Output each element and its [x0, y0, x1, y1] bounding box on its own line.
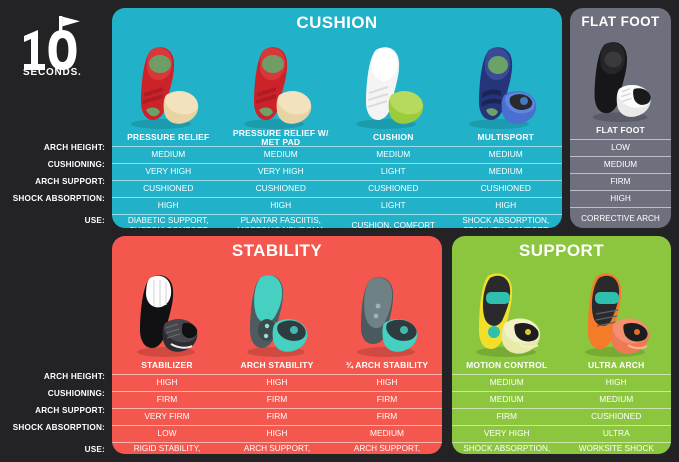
table-row: LOW HIGH MEDIUM — [112, 425, 442, 442]
use-line-1: ARCH SUPPORT, — [354, 444, 420, 453]
product-image-multisport — [450, 35, 563, 130]
cell-cushioning: MEDIUM — [450, 164, 563, 180]
cell-cushioning: FIRM — [332, 392, 442, 408]
table-row: FIRM CUSHIONED — [452, 408, 671, 425]
cell-shock-absorption: VERY HIGH — [452, 426, 562, 442]
product-image-cushion — [337, 35, 450, 130]
logo-wordmark: SECONDS. — [23, 67, 82, 76]
panel-title-cushion: CUSHION — [112, 13, 562, 33]
product-image-pressure-relief — [112, 35, 225, 130]
panel-title-stability: STABILITY — [112, 241, 442, 261]
cell-cushioning: VERY HIGH — [225, 164, 338, 180]
table-row: FIRM FIRM FIRM — [112, 391, 442, 408]
cell-arch-height: MEDIUM — [452, 375, 562, 391]
row-label-use: USE: — [0, 436, 110, 458]
use-line-2: COMFORT, STABILITY — [463, 454, 550, 455]
product-name: ¾ ARCH STABILITY — [332, 358, 442, 374]
cell-cushioning: LIGHT — [337, 164, 450, 180]
use-line-1: ARCH SUPPORT, — [244, 444, 310, 453]
product-image-flat-foot — [570, 31, 671, 123]
table-row: MEDIUM — [570, 156, 671, 173]
product-name: PRESSURE RELIEF W/ MET PAD — [225, 130, 338, 146]
cell-arch-height: MEDIUM — [225, 147, 338, 163]
spec-table-stability: STABILIZER ARCH STABILITY ¾ ARCH STABILI… — [112, 358, 442, 454]
insole-yellow-black-icon — [464, 266, 550, 358]
table-row: SHOCK ABSORPTION, COMFORT, STABILITY WOR… — [452, 442, 671, 454]
cell-arch-support: CUSHIONED — [450, 181, 563, 197]
insole-red-beige-icon — [127, 38, 209, 130]
cell-shock-absorption: LIGHT — [337, 198, 450, 214]
product-image-stabilizer — [112, 263, 222, 358]
cell-use: CORRECTIVE ARCH — [570, 208, 671, 228]
cell-arch-support: CUSHIONED — [337, 181, 450, 197]
panel-cushion: CUSHION — [112, 8, 562, 228]
insole-red-beige-icon — [240, 38, 322, 130]
product-image-pressure-relief-met-pad — [225, 35, 338, 130]
cell-arch-height: MEDIUM — [450, 147, 563, 163]
row-label-shock-absorption: SHOCK ABSORPTION: — [0, 419, 110, 436]
table-header-row: FLAT FOOT — [570, 123, 671, 139]
cell-shock-absorption: HIGH — [222, 426, 332, 442]
cell-arch-height: HIGH — [222, 375, 332, 391]
cell-use: WORKSITE SHOCK ABSORPTION — [562, 443, 672, 454]
use-line-2: SHOCK ABSORPTION — [345, 454, 430, 455]
spec-table-flat-foot: FLAT FOOT LOW MEDIUM FIRM HIGH CORRECTIV… — [570, 123, 671, 228]
use-line-2: CUSTOM COMFORT — [128, 226, 209, 229]
cell-use: RIGID STABILITY, ARCH SUPPORT — [112, 443, 222, 454]
use-line-1: SHOCK ABSORPTION, — [463, 444, 550, 453]
table-row: MEDIUM MEDIUM — [452, 391, 671, 408]
product-images-stability — [112, 263, 442, 358]
table-row: RIGID STABILITY, ARCH SUPPORT ARCH SUPPO… — [112, 442, 442, 454]
cell-arch-support: VERY FIRM — [112, 409, 222, 425]
cell-arch-support: CUSHIONED — [562, 409, 672, 425]
cell-use: SHOCK ABSORPTION, COMFORT, STABILITY — [452, 443, 562, 454]
cell-arch-support: CUSHIONED — [225, 181, 338, 197]
cell-arch-support: FIRM — [570, 174, 671, 190]
insole-orange-black-icon — [573, 266, 659, 358]
cell-arch-support: FIRM — [452, 409, 562, 425]
cell-arch-height: LOW — [570, 140, 671, 156]
spec-table-cushion: PRESSURE RELIEF PRESSURE RELIEF W/ MET P… — [112, 130, 562, 228]
product-image-three-quarter-arch-stability — [332, 263, 442, 358]
ten-seconds-logo-icon: SECONDS. — [12, 14, 98, 76]
cell-use: ARCH SUPPORT, SHOCK ABSORPTION — [332, 443, 442, 454]
row-label-use: USE: — [0, 207, 110, 229]
product-image-motion-control — [452, 263, 562, 358]
use-line-1: CORRECTIVE ARCH — [581, 214, 660, 223]
row-label-cushioning: CUSHIONING: — [0, 385, 110, 402]
table-row: VERY HIGH ULTRA — [452, 425, 671, 442]
cell-shock-absorption: HIGH — [112, 198, 225, 214]
insole-black-white-icon — [580, 33, 662, 123]
cell-cushioning: FIRM — [222, 392, 332, 408]
cell-arch-height: HIGH — [562, 375, 672, 391]
use-line-2: STABILITY, COMFORT — [462, 226, 549, 229]
use-line-2: ARCH SUPPORT — [134, 454, 201, 455]
cell-arch-support: CUSHIONED — [112, 181, 225, 197]
table-row: MEDIUM HIGH — [452, 374, 671, 391]
product-image-ultra-arch — [562, 263, 672, 358]
product-name: MULTISPORT — [450, 130, 563, 146]
cell-cushioning: MEDIUM — [562, 392, 672, 408]
table-header-row: STABILIZER ARCH STABILITY ¾ ARCH STABILI… — [112, 358, 442, 374]
panel-support: SUPPORT — [452, 236, 671, 454]
comparison-chart: SECONDS. ARCH HEIGHT: CUSHIONING: ARCH S… — [0, 0, 679, 462]
cell-arch-height: MEDIUM — [112, 147, 225, 163]
product-images-support — [452, 263, 671, 358]
panel-title-flat-foot: FLAT FOOT — [570, 14, 671, 29]
cell-arch-height: HIGH — [332, 375, 442, 391]
product-name: ARCH STABILITY — [222, 358, 332, 374]
table-row: LOW — [570, 139, 671, 156]
table-row: DIABETIC SUPPORT, CUSTOM COMFORT PLANTAR… — [112, 214, 562, 228]
row-labels-bottom: ARCH HEIGHT: CUSHIONING: ARCH SUPPORT: S… — [0, 368, 110, 458]
row-label-arch-height: ARCH HEIGHT: — [0, 139, 110, 156]
row-label-cushioning: CUSHIONING: — [0, 156, 110, 173]
table-header-row: PRESSURE RELIEF PRESSURE RELIEF W/ MET P… — [112, 130, 562, 146]
table-row: MEDIUM MEDIUM MEDIUM MEDIUM — [112, 146, 562, 163]
cell-arch-support: FIRM — [222, 409, 332, 425]
table-row: VERY FIRM FIRM FIRM — [112, 408, 442, 425]
use-line-1: CUSHION, COMFORT — [351, 221, 435, 228]
panel-title-support: SUPPORT — [452, 241, 671, 261]
cell-use: SHOCK ABSORPTION, STABILITY, COMFORT — [450, 215, 563, 228]
cell-use: ARCH SUPPORT, SHOCK ABSORPTION — [222, 443, 332, 454]
cell-cushioning: MEDIUM — [570, 157, 671, 173]
table-row: CUSHIONED CUSHIONED CUSHIONED CUSHIONED — [112, 180, 562, 197]
table-header-row: MOTION CONTROL ULTRA ARCH — [452, 358, 671, 374]
spec-table-support: MOTION CONTROL ULTRA ARCH MEDIUM HIGH ME… — [452, 358, 671, 454]
table-row: CORRECTIVE ARCH — [570, 207, 671, 228]
cell-cushioning: FIRM — [112, 392, 222, 408]
product-name: STABILIZER — [112, 358, 222, 374]
panel-flat-foot: FLAT FOOT FLAT FOOT LOW — [570, 8, 671, 228]
use-line-2: SHOCK ABSORPTION — [235, 454, 320, 455]
use-line-1: WORKSITE SHOCK — [579, 444, 654, 453]
cell-shock-absorption: HIGH — [225, 198, 338, 214]
cell-arch-height: MEDIUM — [337, 147, 450, 163]
product-name: FLAT FOOT — [570, 123, 671, 139]
product-name: CUSHION — [337, 130, 450, 146]
cell-use: PLANTAR FASCIITIS, MORTON'S NEUROMA — [225, 215, 338, 228]
table-row: VERY HIGH VERY HIGH LIGHT MEDIUM — [112, 163, 562, 180]
cell-shock-absorption: ULTRA — [562, 426, 672, 442]
product-images-cushion — [112, 35, 562, 130]
table-row: HIGH HIGH LIGHT HIGH — [112, 197, 562, 214]
use-line-1: PLANTAR FASCIITIS, — [241, 216, 321, 225]
panel-stability: STABILITY — [112, 236, 442, 454]
cell-use: DIABETIC SUPPORT, CUSTOM COMFORT — [112, 215, 225, 228]
cell-cushioning: MEDIUM — [452, 392, 562, 408]
insole-white-green-icon — [352, 38, 434, 130]
row-label-arch-support: ARCH SUPPORT: — [0, 173, 110, 190]
row-label-arch-support: ARCH SUPPORT: — [0, 402, 110, 419]
product-images-flat-foot — [570, 31, 671, 123]
insole-blue-green-icon — [465, 38, 547, 130]
product-name: MOTION CONTROL — [452, 358, 562, 374]
cell-arch-support: FIRM — [332, 409, 442, 425]
use-line-1: RIGID STABILITY, — [134, 444, 201, 453]
row-label-shock-absorption: SHOCK ABSORPTION: — [0, 190, 110, 207]
cell-arch-height: HIGH — [112, 375, 222, 391]
row-labels-top: ARCH HEIGHT: CUSHIONING: ARCH SUPPORT: S… — [0, 139, 110, 229]
cell-shock-absorption: MEDIUM — [332, 426, 442, 442]
insole-teal-gray-icon — [236, 266, 318, 358]
product-name: ULTRA ARCH — [562, 358, 672, 374]
cell-cushioning: VERY HIGH — [112, 164, 225, 180]
use-line-2: MORTON'S NEUROMA — [237, 226, 324, 229]
row-label-arch-height: ARCH HEIGHT: — [0, 368, 110, 385]
use-line-1: DIABETIC SUPPORT, — [128, 216, 209, 225]
table-row: HIGH HIGH HIGH — [112, 374, 442, 391]
cell-shock-absorption: LOW — [112, 426, 222, 442]
use-line-1: SHOCK ABSORPTION, — [462, 216, 549, 225]
insole-white-black-icon — [126, 266, 208, 358]
insole-teal-dark-icon — [346, 266, 428, 358]
product-image-arch-stability — [222, 263, 332, 358]
use-line-2: ABSORPTION — [579, 454, 654, 455]
cell-shock-absorption: HIGH — [450, 198, 563, 214]
product-name: PRESSURE RELIEF — [112, 130, 225, 146]
cell-use: CUSHION, COMFORT — [337, 215, 450, 228]
table-row: FIRM — [570, 173, 671, 190]
table-row: HIGH — [570, 190, 671, 207]
brand-logo: SECONDS. — [12, 14, 98, 76]
cell-shock-absorption: HIGH — [570, 191, 671, 207]
